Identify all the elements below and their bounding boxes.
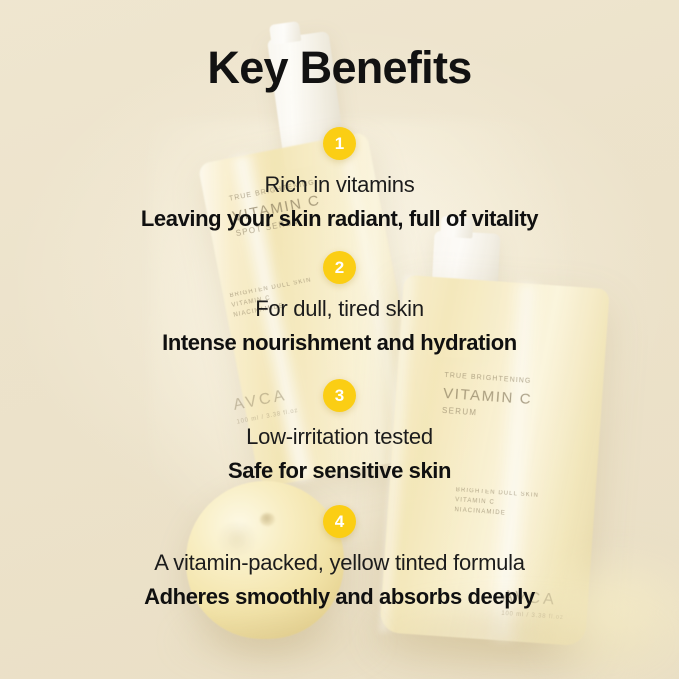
page-title: Key Benefits bbox=[0, 44, 679, 91]
benefit-3-headline: Low-irritation tested bbox=[0, 424, 679, 450]
benefit-item-2: 2 For dull, tired skin Intense nourishme… bbox=[0, 251, 679, 356]
benefit-2-headline: For dull, tired skin bbox=[0, 296, 679, 322]
key-benefits-poster: TRUE BRIGHTENING VITAMIN C SPOT SERUM BR… bbox=[0, 0, 679, 679]
benefit-item-1: 1 Rich in vitamins Leaving your skin rad… bbox=[0, 127, 679, 232]
benefit-item-4: 4 A vitamin-packed, yellow tinted formul… bbox=[0, 505, 679, 610]
benefit-badge-2: 2 bbox=[323, 251, 356, 284]
benefit-4-headline: A vitamin-packed, yellow tinted formula bbox=[0, 550, 679, 576]
benefit-badge-3: 3 bbox=[323, 379, 356, 412]
benefit-2-detail: Intense nourishment and hydration bbox=[0, 330, 679, 356]
poster-content: Key Benefits 1 Rich in vitamins Leaving … bbox=[0, 0, 679, 679]
benefit-badge-4: 4 bbox=[323, 505, 356, 538]
benefit-3-detail: Safe for sensitive skin bbox=[0, 458, 679, 484]
benefit-1-headline: Rich in vitamins bbox=[0, 172, 679, 198]
benefit-item-3: 3 Low-irritation tested Safe for sensiti… bbox=[0, 379, 679, 484]
benefit-1-detail: Leaving your skin radiant, full of vital… bbox=[0, 206, 679, 232]
benefit-4-detail: Adheres smoothly and absorbs deeply bbox=[0, 584, 679, 610]
benefit-badge-1: 1 bbox=[323, 127, 356, 160]
